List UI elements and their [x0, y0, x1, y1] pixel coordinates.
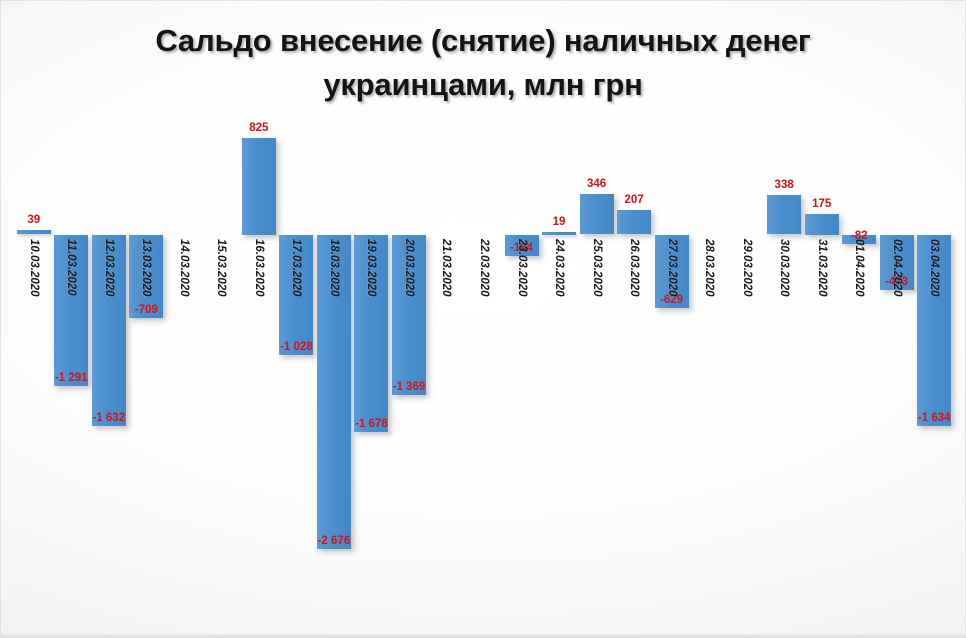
bar-value-label: 19 — [553, 216, 566, 228]
bar-value-label: -1 678 — [355, 418, 388, 430]
category-label: 25.03.2020 — [591, 239, 603, 297]
chart-title: Сальдо внесение (снятие) наличных денег … — [1, 19, 965, 107]
category-label: 22.03.2020 — [478, 239, 490, 297]
bar[interactable] — [580, 194, 614, 235]
category-label: 24.03.2020 — [553, 239, 565, 297]
category-label: 27.03.2020 — [666, 239, 678, 297]
bar-group: 17531.03.2020 — [803, 117, 841, 587]
category-label: 03.04.2020 — [928, 239, 940, 297]
category-label: 02.04.2020 — [891, 239, 903, 297]
category-label: 20.03.2020 — [403, 239, 415, 297]
category-label: 17.03.2020 — [290, 239, 302, 297]
bar-group: -70913.03.2020 — [128, 117, 166, 587]
bar[interactable] — [805, 214, 839, 235]
category-label: 28.03.2020 — [703, 239, 715, 297]
chart-container: Сальдо внесение (снятие) наличных денег … — [0, 0, 966, 638]
bar-value-label: 825 — [249, 122, 268, 134]
bar-value-label: 338 — [775, 179, 794, 191]
bar[interactable] — [242, 138, 276, 235]
bar-group: -2 67618.03.2020 — [315, 117, 353, 587]
bar-group: -8201.04.2020 — [840, 117, 878, 587]
bar-group: 82516.03.2020 — [240, 117, 278, 587]
bar-group: -1 36920.03.2020 — [390, 117, 428, 587]
category-label: 31.03.2020 — [816, 239, 828, 297]
bar-group: 3910.03.2020 — [15, 117, 53, 587]
bar-value-label: -1 632 — [92, 412, 125, 424]
bar-group: 33830.03.2020 — [765, 117, 803, 587]
bar-group: -1 67819.03.2020 — [353, 117, 391, 587]
bar-value-label: -1 028 — [280, 341, 313, 353]
bar-value-label: 207 — [624, 194, 643, 206]
bar-group: -62927.03.2020 — [653, 117, 691, 587]
bar-group: -18423.03.2020 — [503, 117, 541, 587]
bar-group: 29.03.2020 — [728, 117, 766, 587]
bar-value-label: 39 — [27, 214, 40, 226]
bar-group: 28.03.2020 — [690, 117, 728, 587]
category-label: 26.03.2020 — [628, 239, 640, 297]
bar-value-label: -1 634 — [918, 412, 951, 424]
category-label: 30.03.2020 — [778, 239, 790, 297]
bar-group: -1 63212.03.2020 — [90, 117, 128, 587]
bar-group: -1 29111.03.2020 — [53, 117, 91, 587]
bar[interactable] — [542, 232, 576, 235]
bar-group: -1 63403.04.2020 — [915, 117, 953, 587]
category-label: 23.03.2020 — [516, 239, 528, 297]
bar-value-label: -709 — [135, 304, 158, 316]
category-label: 19.03.2020 — [365, 239, 377, 297]
bar[interactable] — [17, 230, 51, 235]
bar-value-label: -2 676 — [318, 535, 351, 547]
bar-group: 14.03.2020 — [165, 117, 203, 587]
bar[interactable] — [617, 210, 651, 234]
category-label: 18.03.2020 — [328, 239, 340, 297]
bar-group: -47302.04.2020 — [878, 117, 916, 587]
bar-group: 1924.03.2020 — [540, 117, 578, 587]
category-label: 29.03.2020 — [741, 239, 753, 297]
bar-group: 22.03.2020 — [465, 117, 503, 587]
category-label: 11.03.2020 — [65, 239, 77, 296]
bar-group: 21.03.2020 — [428, 117, 466, 587]
category-label: 16.03.2020 — [253, 239, 265, 297]
bar-value-label: 175 — [812, 198, 831, 210]
plot-area: 3910.03.2020-1 29111.03.2020-1 63212.03.… — [15, 117, 953, 587]
bar-group: -1 02817.03.2020 — [278, 117, 316, 587]
bar-value-label: -1 369 — [393, 381, 426, 393]
bar-group: 15.03.2020 — [203, 117, 241, 587]
category-label: 12.03.2020 — [103, 239, 115, 297]
bar[interactable] — [767, 195, 801, 235]
bar-group: 34625.03.2020 — [578, 117, 616, 587]
bar-value-label: 346 — [587, 178, 606, 190]
category-label: 14.03.2020 — [178, 239, 190, 297]
category-label: 13.03.2020 — [140, 239, 152, 297]
category-label: 01.04.2020 — [853, 239, 865, 297]
bar-group: 20726.03.2020 — [615, 117, 653, 587]
category-label: 15.03.2020 — [215, 239, 227, 297]
category-label: 10.03.2020 — [28, 239, 40, 297]
category-label: 21.03.2020 — [440, 239, 452, 297]
bar-value-label: -1 291 — [55, 372, 88, 384]
